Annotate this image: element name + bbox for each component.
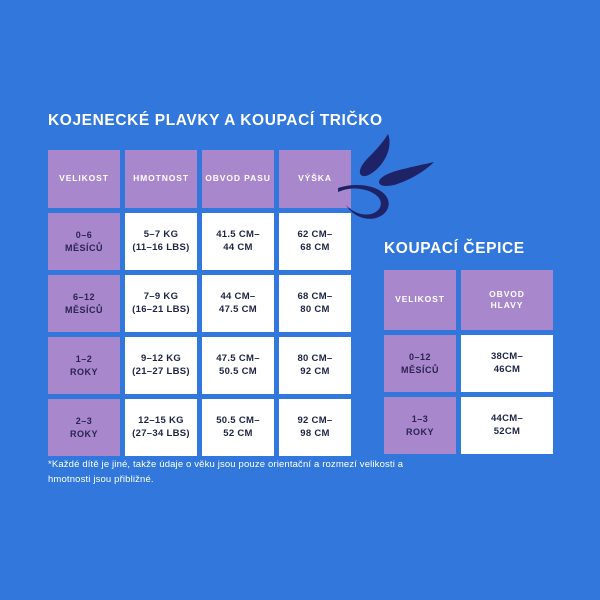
table-row: 12–15 KG(27–34 LBS) — [125, 399, 197, 456]
size-chart-infographic: KOJENECKÉ PLAVKY A KOUPACÍ TRIČKO VELIKO… — [0, 0, 600, 600]
table-row: 0–6MĚSÍCŮ — [48, 213, 120, 270]
table-row: 80 CM–92 CM — [279, 337, 351, 394]
table-row: 7–9 KG(16–21 LBS) — [125, 275, 197, 332]
swimwear-size-table: VELIKOST HMOTNOST OBVOD PASU VÝŠKA 0–6MĚ… — [48, 150, 351, 456]
table-row: 2–3ROKY — [48, 399, 120, 456]
column-header-velikost: VELIKOST — [48, 150, 120, 208]
table-row: 38CM–46CM — [461, 335, 553, 392]
column-header-velikost: VELIKOST — [384, 270, 456, 330]
footnote-disclaimer: *Každé dítě je jiné, takže údaje o věku … — [48, 458, 438, 487]
table-row: 41.5 CM–44 CM — [202, 213, 274, 270]
table-row: 9–12 KG(21–27 LBS) — [125, 337, 197, 394]
table-row: 68 CM–80 CM — [279, 275, 351, 332]
table-row: 50.5 CM–52 CM — [202, 399, 274, 456]
table-row: 5–7 KG(11–16 LBS) — [125, 213, 197, 270]
table-row: 62 CM–68 CM — [279, 213, 351, 270]
column-header-obvod-hlavy: OBVODHLAVY — [461, 270, 553, 330]
table-row: 92 CM–98 CM — [279, 399, 351, 456]
table-row: 1–3ROKY — [384, 397, 456, 454]
column-header-vyska: VÝŠKA — [279, 150, 351, 208]
table-row: 47.5 CM–50.5 CM — [202, 337, 274, 394]
column-header-hmotnost: HMOTNOST — [125, 150, 197, 208]
table-row: 6–12MĚSÍCŮ — [48, 275, 120, 332]
swimwear-table-title: KOJENECKÉ PLAVKY A KOUPACÍ TRIČKO — [48, 112, 383, 130]
table-row: 44CM–52CM — [461, 397, 553, 454]
water-splash-icon — [338, 128, 444, 228]
table-row: 0–12MĚSÍCŮ — [384, 335, 456, 392]
column-header-obvod-pasu: OBVOD PASU — [202, 150, 274, 208]
swimcap-table-title: KOUPACÍ ČEPICE — [384, 240, 525, 258]
swimcap-size-table: VELIKOST OBVODHLAVY 0–12MĚSÍCŮ 38CM–46CM… — [384, 270, 553, 454]
table-row: 1–2ROKY — [48, 337, 120, 394]
table-row: 44 CM–47.5 CM — [202, 275, 274, 332]
